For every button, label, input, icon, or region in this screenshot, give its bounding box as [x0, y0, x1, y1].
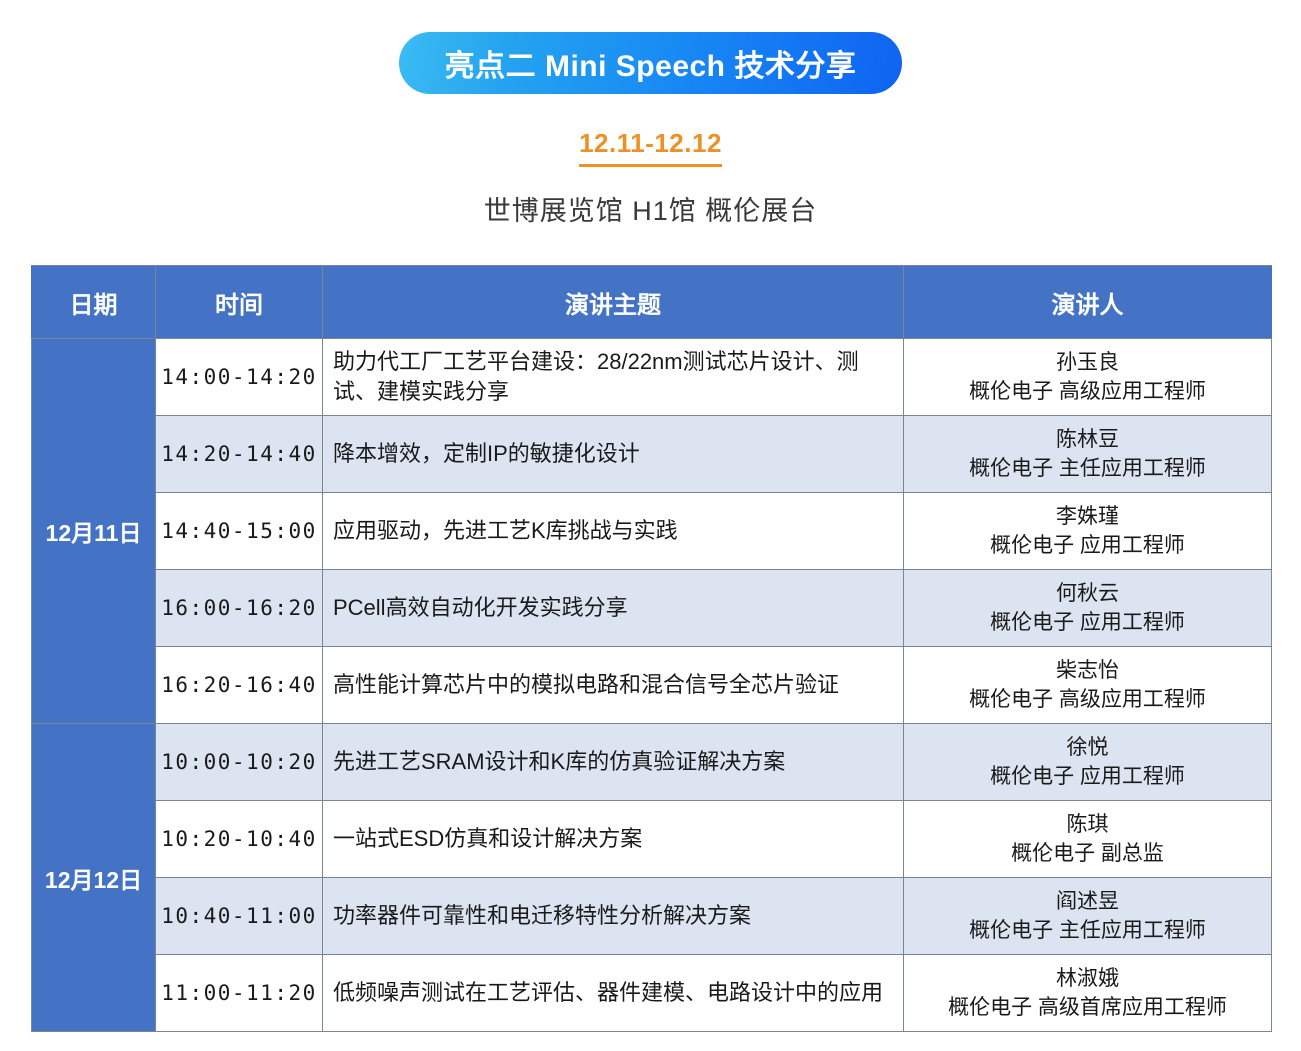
- topic-cell: 功率器件可靠性和电迁移特性分析解决方案: [323, 878, 904, 955]
- speaker-role: 概伦电子 高级首席应用工程师: [912, 993, 1263, 1022]
- header-section: 亮点二 Mini Speech 技术分享: [0, 0, 1301, 94]
- topic-cell: 先进工艺SRAM设计和K库的仿真验证解决方案: [323, 724, 904, 801]
- speaker-name: 徐悦: [912, 733, 1263, 762]
- topic-cell: 降本增效，定制IP的敏捷化设计: [323, 416, 904, 493]
- highlight-title-badge: 亮点二 Mini Speech 技术分享: [399, 32, 903, 94]
- speaker-cell: 李姝瑾 概伦电子 应用工程师: [904, 493, 1272, 570]
- speaker-role: 概伦电子 应用工程师: [912, 608, 1263, 637]
- speaker-name: 孙玉良: [912, 348, 1263, 377]
- speaker-name: 柴志怡: [912, 656, 1263, 685]
- speaker-cell: 何秋云 概伦电子 应用工程师: [904, 570, 1272, 647]
- speaker-cell: 孙玉良 概伦电子 高级应用工程师: [904, 339, 1272, 416]
- event-date-range: 12.11-12.12: [579, 128, 722, 167]
- time-cell: 10:20-10:40: [156, 801, 323, 878]
- speaker-cell: 徐悦 概伦电子 应用工程师: [904, 724, 1272, 801]
- table-row: 10:40-11:00 功率器件可靠性和电迁移特性分析解决方案 阎述昱 概伦电子…: [32, 878, 1272, 955]
- speaker-cell: 阎述昱 概伦电子 主任应用工程师: [904, 878, 1272, 955]
- poster-page: 亮点二 Mini Speech 技术分享 12.11-12.12 世博展览馆 H…: [0, 0, 1301, 1051]
- table-row: 16:00-16:20 PCell高效自动化开发实践分享 何秋云 概伦电子 应用…: [32, 570, 1272, 647]
- table-body: 12月11日 14:00-14:20 助力代工厂工艺平台建设：28/22nm测试…: [32, 339, 1272, 1032]
- speaker-role: 概伦电子 高级应用工程师: [912, 685, 1263, 714]
- time-cell: 14:20-14:40: [156, 416, 323, 493]
- speaker-role: 概伦电子 主任应用工程师: [912, 454, 1263, 483]
- speaker-role: 概伦电子 高级应用工程师: [912, 377, 1263, 406]
- time-cell: 14:00-14:20: [156, 339, 323, 416]
- table-row: 12月11日 14:00-14:20 助力代工厂工艺平台建设：28/22nm测试…: [32, 339, 1272, 416]
- time-cell: 11:00-11:20: [156, 955, 323, 1032]
- table-header: 日期 时间 演讲主题 演讲人: [32, 266, 1272, 339]
- speaker-name: 林淑娥: [912, 964, 1263, 993]
- time-cell: 10:40-11:00: [156, 878, 323, 955]
- schedule-table: 日期 时间 演讲主题 演讲人 12月11日 14:00-14:20 助力代工厂工…: [31, 265, 1272, 1032]
- time-cell: 14:40-15:00: [156, 493, 323, 570]
- speaker-name: 何秋云: [912, 579, 1263, 608]
- table-row: 14:40-15:00 应用驱动，先进工艺K库挑战与实践 李姝瑾 概伦电子 应用…: [32, 493, 1272, 570]
- speaker-cell: 陈琪 概伦电子 副总监: [904, 801, 1272, 878]
- table-row: 12月12日 10:00-10:20 先进工艺SRAM设计和K库的仿真验证解决方…: [32, 724, 1272, 801]
- column-header-topic: 演讲主题: [323, 266, 904, 339]
- time-cell: 10:00-10:20: [156, 724, 323, 801]
- speaker-role: 概伦电子 应用工程师: [912, 531, 1263, 560]
- speaker-role: 概伦电子 应用工程师: [912, 762, 1263, 791]
- topic-cell: 一站式ESD仿真和设计解决方案: [323, 801, 904, 878]
- event-venue: 世博展览馆 H1馆 概伦展台: [484, 189, 818, 228]
- date-section: 12.11-12.12: [0, 128, 1301, 167]
- speaker-name: 陈琪: [912, 810, 1263, 839]
- date-cell-dec11: 12月11日: [32, 339, 156, 724]
- topic-cell: PCell高效自动化开发实践分享: [323, 570, 904, 647]
- topic-cell: 低频噪声测试在工艺评估、器件建模、电路设计中的应用: [323, 955, 904, 1032]
- column-header-speaker: 演讲人: [904, 266, 1272, 339]
- time-cell: 16:20-16:40: [156, 647, 323, 724]
- speaker-name: 陈林豆: [912, 425, 1263, 454]
- table-row: 11:00-11:20 低频噪声测试在工艺评估、器件建模、电路设计中的应用 林淑…: [32, 955, 1272, 1032]
- topic-cell: 高性能计算芯片中的模拟电路和混合信号全芯片验证: [323, 647, 904, 724]
- table-header-row: 日期 时间 演讲主题 演讲人: [32, 266, 1272, 339]
- time-cell: 16:00-16:20: [156, 570, 323, 647]
- table-row: 16:20-16:40 高性能计算芯片中的模拟电路和混合信号全芯片验证 柴志怡 …: [32, 647, 1272, 724]
- speaker-cell: 林淑娥 概伦电子 高级首席应用工程师: [904, 955, 1272, 1032]
- speaker-role: 概伦电子 主任应用工程师: [912, 916, 1263, 945]
- speaker-cell: 柴志怡 概伦电子 高级应用工程师: [904, 647, 1272, 724]
- date-cell-dec12: 12月12日: [32, 724, 156, 1032]
- speaker-cell: 陈林豆 概伦电子 主任应用工程师: [904, 416, 1272, 493]
- speaker-role: 概伦电子 副总监: [912, 839, 1263, 868]
- schedule-table-container: 日期 时间 演讲主题 演讲人 12月11日 14:00-14:20 助力代工厂工…: [31, 265, 1271, 1032]
- speaker-name: 阎述昱: [912, 887, 1263, 916]
- venue-section: 世博展览馆 H1馆 概伦展台: [0, 189, 1301, 228]
- table-row: 10:20-10:40 一站式ESD仿真和设计解决方案 陈琪 概伦电子 副总监: [32, 801, 1272, 878]
- column-header-date: 日期: [32, 266, 156, 339]
- topic-cell: 助力代工厂工艺平台建设：28/22nm测试芯片设计、测试、建模实践分享: [323, 339, 904, 416]
- topic-cell: 应用驱动，先进工艺K库挑战与实践: [323, 493, 904, 570]
- column-header-time: 时间: [156, 266, 323, 339]
- speaker-name: 李姝瑾: [912, 502, 1263, 531]
- table-row: 14:20-14:40 降本增效，定制IP的敏捷化设计 陈林豆 概伦电子 主任应…: [32, 416, 1272, 493]
